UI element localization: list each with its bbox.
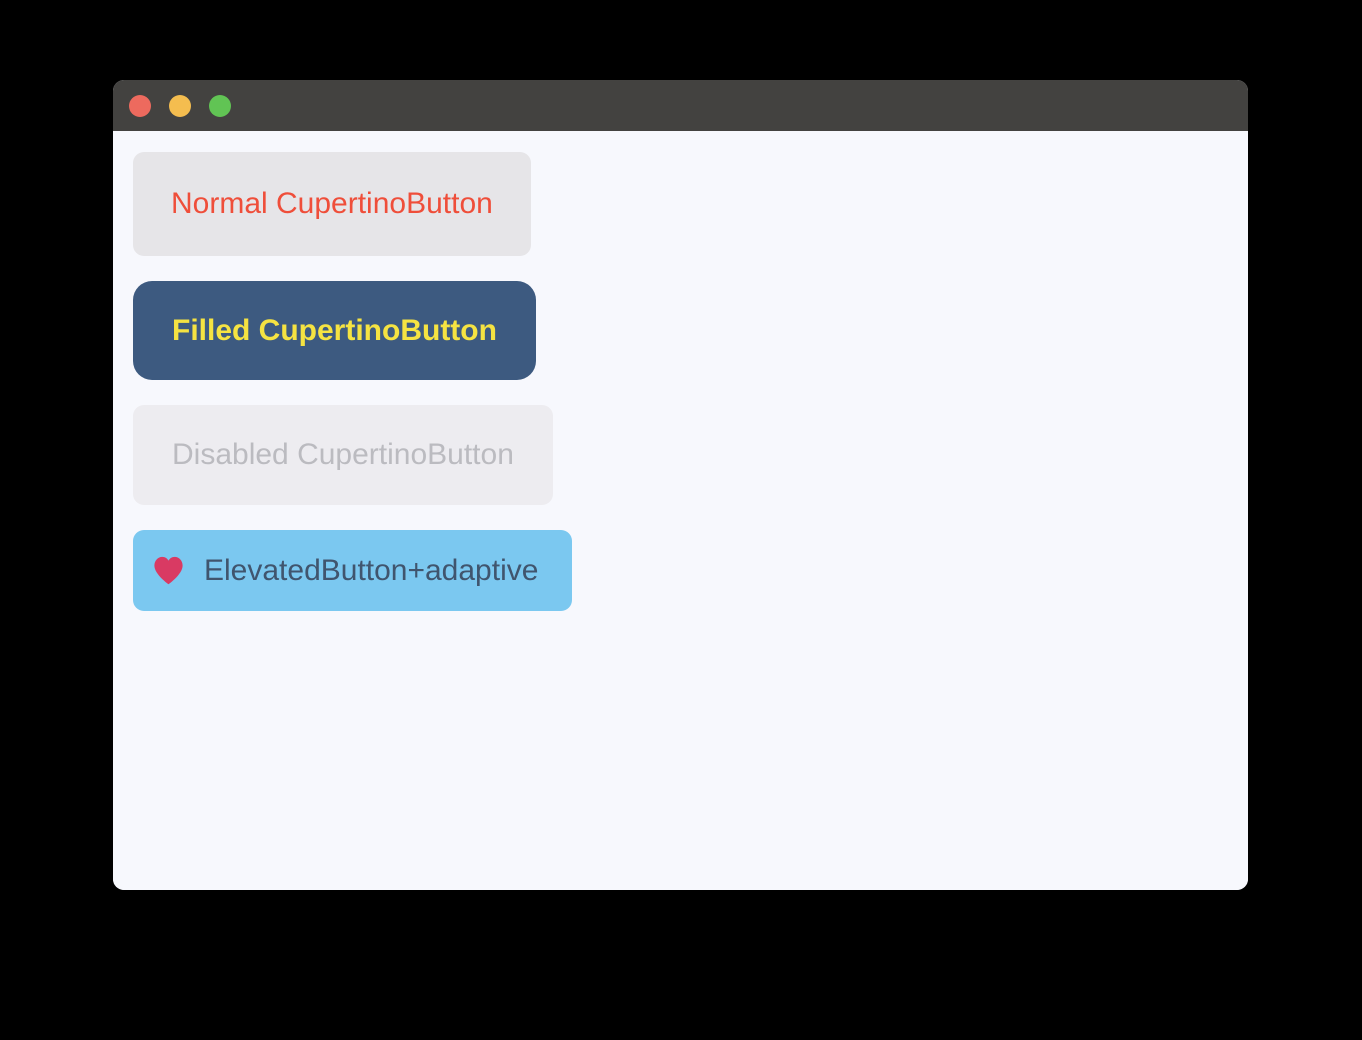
app-window: Normal CupertinoButton Filled CupertinoB…: [113, 80, 1248, 890]
disabled-cupertino-button: Disabled CupertinoButton: [133, 405, 553, 505]
elevated-adaptive-button-label: ElevatedButton+adaptive: [204, 554, 538, 588]
window-title-bar[interactable]: [113, 80, 1248, 131]
normal-cupertino-button-label: Normal CupertinoButton: [171, 187, 493, 221]
disabled-cupertino-button-label: Disabled CupertinoButton: [172, 438, 514, 472]
close-window-button[interactable]: [129, 95, 151, 117]
filled-cupertino-button-label: Filled CupertinoButton: [172, 314, 497, 348]
elevated-adaptive-button[interactable]: ElevatedButton+adaptive: [133, 530, 572, 611]
button-list: Normal CupertinoButton Filled CupertinoB…: [133, 152, 1248, 611]
heart-icon: [153, 556, 184, 585]
maximize-window-button[interactable]: [209, 95, 231, 117]
filled-cupertino-button[interactable]: Filled CupertinoButton: [133, 281, 536, 380]
window-content-area: Normal CupertinoButton Filled CupertinoB…: [113, 131, 1248, 890]
normal-cupertino-button[interactable]: Normal CupertinoButton: [133, 152, 531, 256]
minimize-window-button[interactable]: [169, 95, 191, 117]
window-traffic-lights: [129, 95, 231, 117]
